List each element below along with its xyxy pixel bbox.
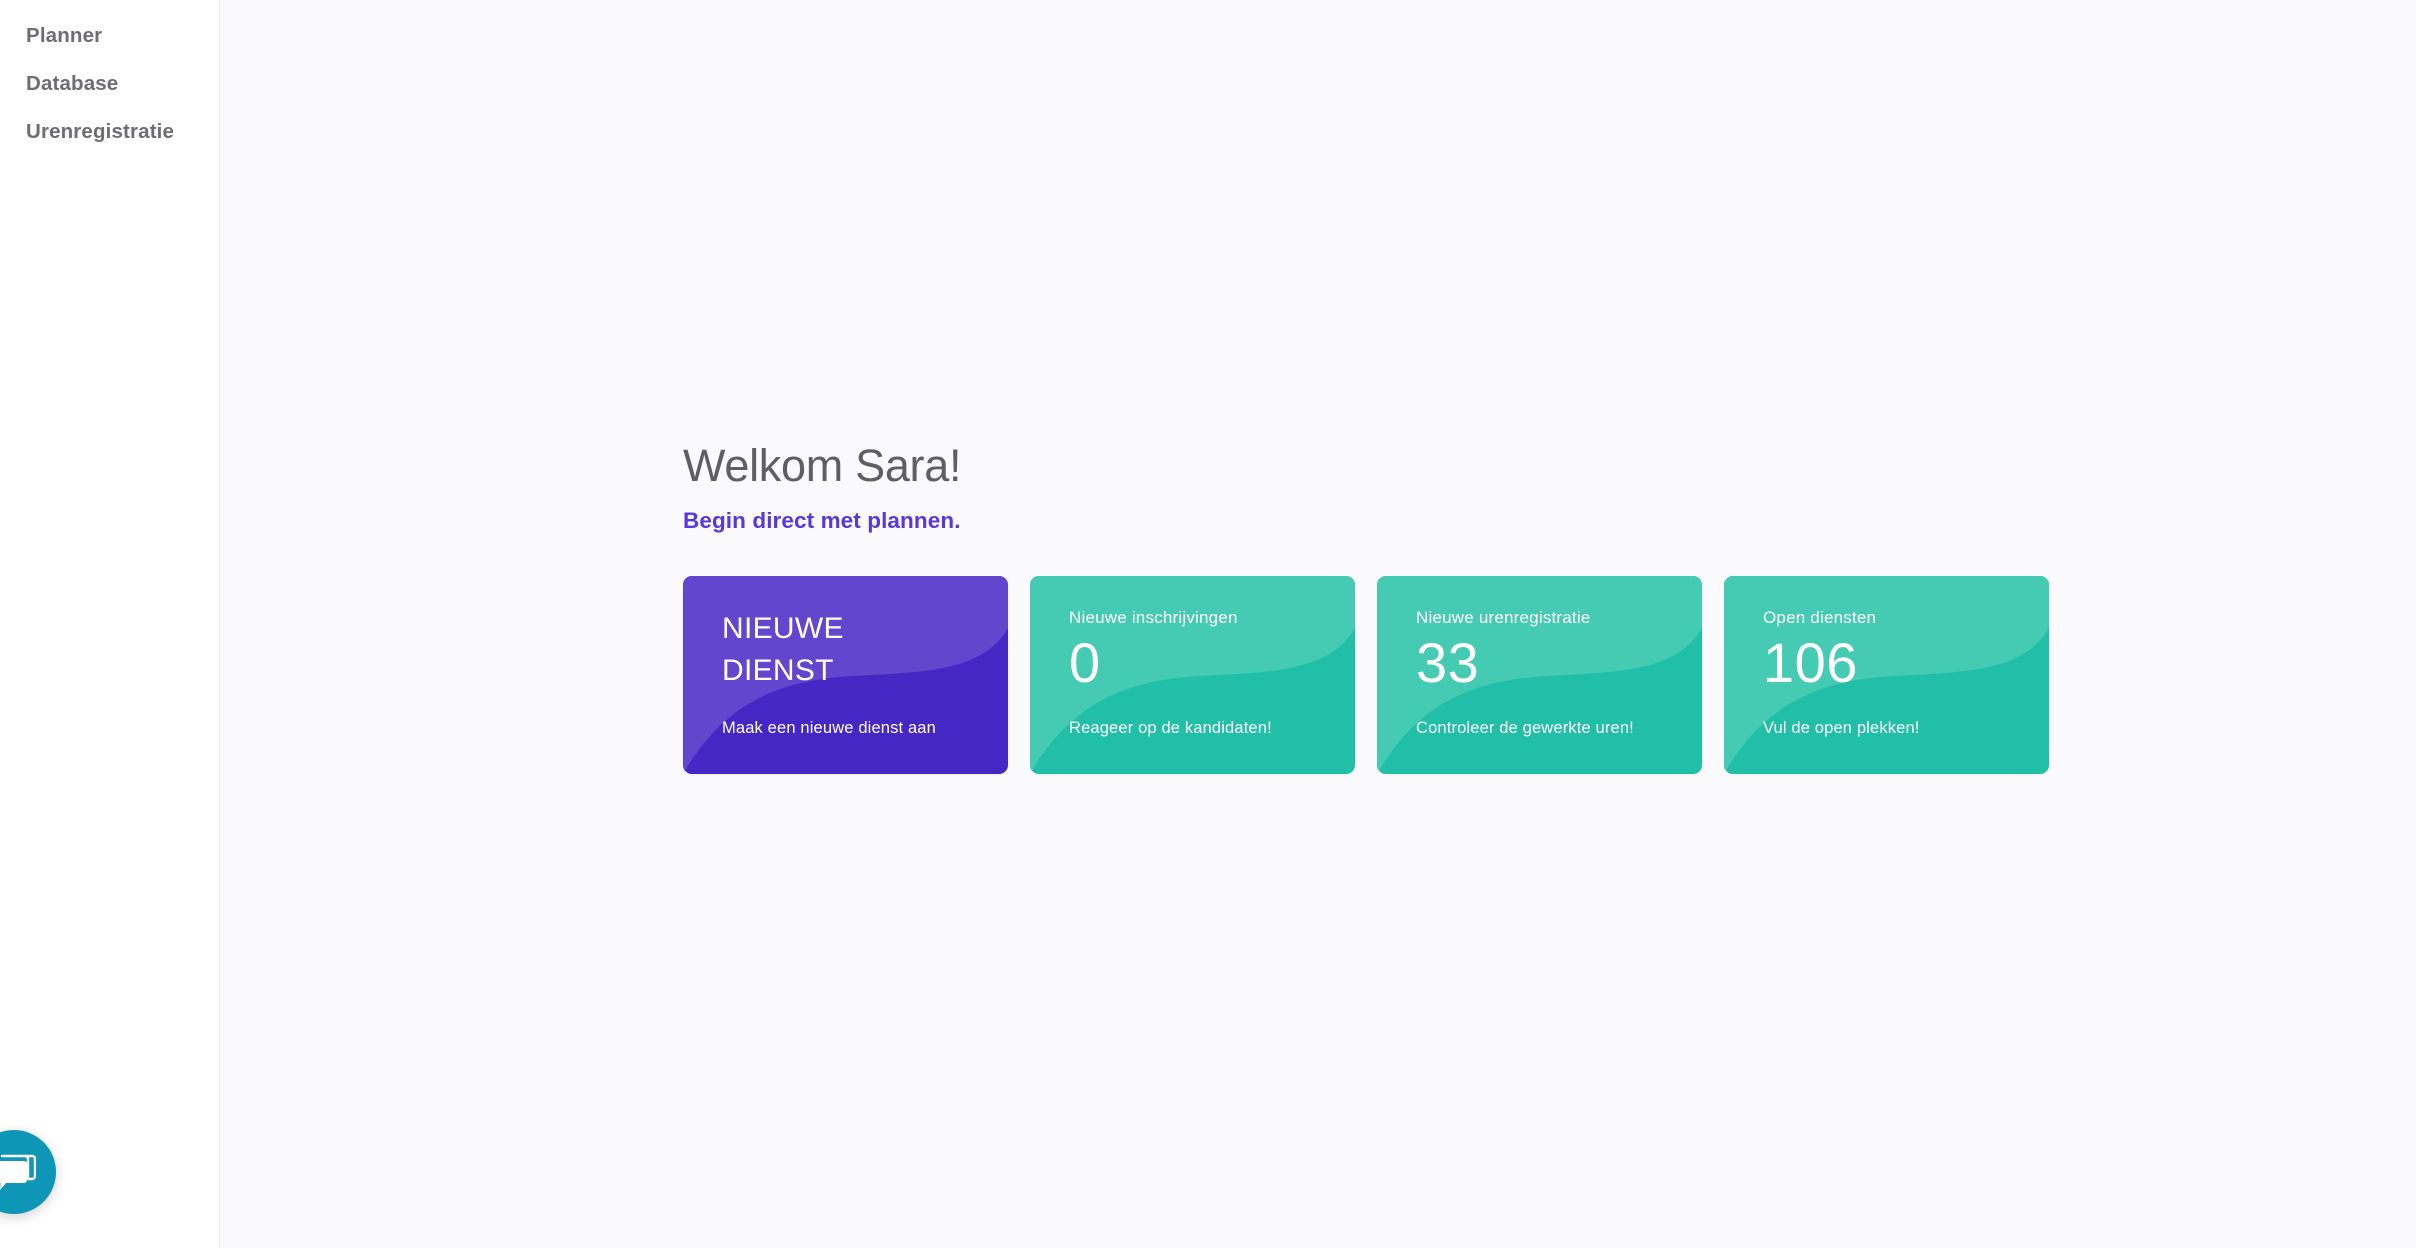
card-label: Nieuwe inschrijvingen bbox=[1069, 608, 1355, 628]
card-label: Nieuwe urenregistratie bbox=[1416, 608, 1702, 628]
sidebar-item-label: Database bbox=[26, 72, 118, 95]
page-title: Welkom Sara! bbox=[683, 440, 2063, 492]
card-label: Open diensten bbox=[1763, 608, 2049, 628]
sidebar-nav-list: Planner Database Urenregistratie bbox=[0, 12, 219, 157]
sidebar-item-label: Urenregistratie bbox=[26, 120, 174, 143]
card-body: Nieuwe urenregistratie 33 Controleer de … bbox=[1377, 576, 1702, 774]
sidebar-item-database[interactable]: Database bbox=[0, 60, 219, 108]
sidebar: Planner Database Urenregistratie bbox=[0, 0, 220, 1248]
card-footer-text: Reageer op de kandidaten! bbox=[1069, 719, 1272, 738]
card-nieuwe-dienst[interactable]: NIEUWE DIENST Maak een nieuwe dienst aan bbox=[683, 576, 1008, 774]
card-body: NIEUWE DIENST Maak een nieuwe dienst aan bbox=[683, 576, 1008, 774]
sidebar-item-label: Planner bbox=[26, 24, 102, 47]
card-nieuwe-inschrijvingen[interactable]: Nieuwe inschrijvingen 0 Reageer op de ka… bbox=[1030, 576, 1355, 774]
page-subtitle: Begin direct met plannen. bbox=[683, 508, 2063, 534]
card-value: 106 bbox=[1763, 634, 2049, 693]
card-footer-text: Maak een nieuwe dienst aan bbox=[722, 719, 936, 738]
app-root: Planner Database Urenregistratie Welkom … bbox=[0, 0, 2416, 1248]
dashboard-card-row: NIEUWE DIENST Maak een nieuwe dienst aan… bbox=[683, 576, 2063, 774]
card-footer-text: Controleer de gewerkte uren! bbox=[1416, 719, 1634, 738]
sidebar-item-urenregistratie[interactable]: Urenregistratie bbox=[0, 108, 219, 156]
card-nieuwe-urenregistratie[interactable]: Nieuwe urenregistratie 33 Controleer de … bbox=[1377, 576, 1702, 774]
card-body: Open diensten 106 Vul de open plekken! bbox=[1724, 576, 2049, 774]
chat-bubble-icon bbox=[0, 1154, 36, 1194]
main-content: Welkom Sara! Begin direct met plannen. N… bbox=[220, 0, 2416, 1248]
card-value: 0 bbox=[1069, 634, 1355, 693]
card-open-diensten[interactable]: Open diensten 106 Vul de open plekken! bbox=[1724, 576, 2049, 774]
card-value: 33 bbox=[1416, 634, 1702, 693]
dashboard-panel: Welkom Sara! Begin direct met plannen. N… bbox=[683, 440, 2063, 774]
card-body: Nieuwe inschrijvingen 0 Reageer op de ka… bbox=[1030, 576, 1355, 774]
card-title: NIEUWE DIENST bbox=[722, 608, 922, 693]
card-footer-text: Vul de open plekken! bbox=[1763, 719, 1920, 738]
sidebar-item-planner[interactable]: Planner bbox=[0, 12, 219, 60]
